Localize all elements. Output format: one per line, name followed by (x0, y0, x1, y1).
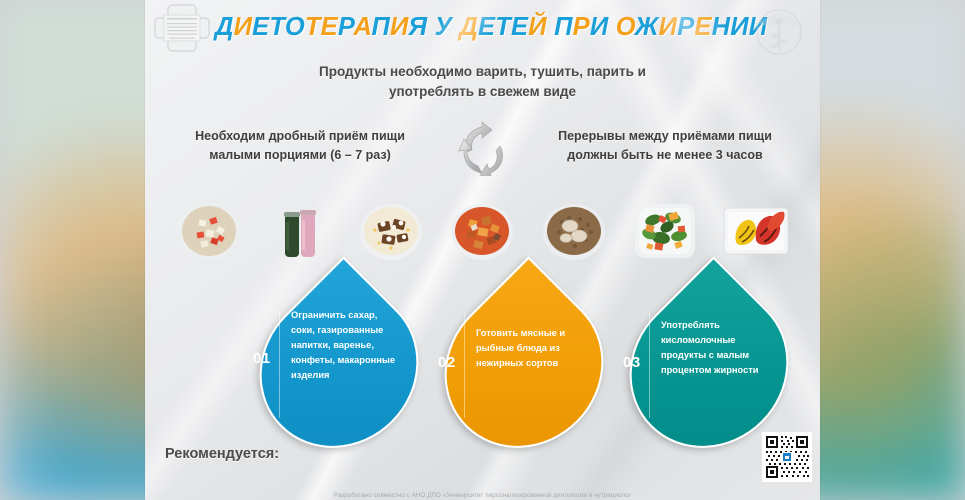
title-segment-0: Д (215, 13, 234, 41)
subtitle-line-2: употреблять в свежем виде (145, 82, 820, 102)
card-number-03: 03 (623, 354, 641, 371)
note-right-line-1: Перерывы между приёмами пищи (534, 127, 796, 146)
note-meal-interval: Перерывы между приёмами пищи должны быть… (534, 127, 796, 166)
infographic-poster: ДИЕТОТЕРАПИЯ У ДЕТЕЙ ПРИ ОЖИРЕНИИ Продук… (145, 0, 820, 500)
card-divider (464, 312, 465, 418)
title-segment-10: У (435, 13, 452, 41)
food-photo-buckwheat-with-mushrooms (538, 194, 610, 266)
title-segment-14: Й (528, 13, 547, 41)
title-segment-21: Ж (635, 13, 659, 41)
note-right-line-2: должны быть не менее 3 часов (534, 146, 796, 165)
title-segment-24: Е (694, 13, 711, 41)
title-segment-18: И (590, 13, 609, 41)
title-segment-3: ТЕ (305, 13, 338, 41)
food-photo-oatmeal-with-fruit (173, 194, 245, 266)
title-segment-12: Д (459, 13, 478, 41)
footer-credit: Разработано совместно с АНО ДПО «Универс… (145, 492, 820, 499)
food-photo-vegetable-stew (446, 194, 518, 266)
recommendation-card-02[interactable]: 02 Готовить мясные и рыбные блюда из неж… (412, 256, 636, 480)
card-number-02: 02 (438, 354, 456, 371)
note-left-line-1: Необходим дробный приём пищи (169, 127, 431, 146)
title-segment-9 (427, 13, 434, 41)
title-segment-2: ЕТО (252, 13, 305, 41)
page-title: ДИЕТОТЕРАПИЯ У ДЕТЕЙ ПРИ ОЖИРЕНИИ (215, 13, 748, 42)
card-number-01: 01 (253, 350, 271, 367)
poster-header: ДИЕТОТЕРАПИЯ У ДЕТЕЙ ПРИ ОЖИРЕНИИ (145, 0, 820, 58)
card-text-03: Употреблять кисломолочные продукты с мал… (661, 318, 769, 378)
title-segment-5: А (353, 13, 371, 41)
title-segment-4: Р (338, 13, 354, 41)
food-photo-fresh-vegetable-salad (629, 194, 701, 266)
title-segment-1: И (234, 13, 253, 41)
note-meal-frequency: Необходим дробный приём пищи малыми порц… (169, 127, 431, 166)
card-text-02: Готовить мясные и рыбные блюда из нежирн… (476, 326, 584, 371)
title-segment-19 (608, 13, 615, 41)
food-photo-strip (145, 189, 820, 271)
title-segment-7: И (390, 13, 409, 41)
title-segment-22: И (659, 13, 678, 41)
meal-frequency-note-row: Необходим дробный приём пищи малыми порц… (145, 115, 820, 177)
food-photo-grilled-peppers-tray (720, 194, 792, 266)
medical-cross-document-icon (153, 2, 211, 54)
card-text-01: Ограничить сахар, соки, газированные нап… (291, 308, 399, 383)
university-emblem-logo-icon (748, 0, 810, 58)
recycle-cycle-arrows-icon (452, 116, 514, 176)
qr-code[interactable] (762, 432, 812, 482)
recommendation-cards: 01 Ограничить сахар, соки, газированные … (145, 278, 820, 463)
card-divider (649, 312, 650, 418)
title-segment-23: Р (677, 13, 694, 41)
food-photo-smoothie-bottles (264, 194, 336, 266)
note-left-line-2: малыми порциями (6 – 7 раз) (169, 146, 431, 165)
title-segment-8: Я (409, 13, 428, 41)
title-segment-17: Р (573, 13, 590, 41)
recommend-label: Рекомендуется: (165, 446, 279, 462)
card-divider (279, 312, 280, 418)
title-segment-15 (547, 13, 554, 41)
title-segment-20: О (616, 13, 635, 41)
cooking-method-subtitle: Продукты необходимо варить, тушить, пари… (145, 62, 820, 101)
title-segment-13: ЕТЕ (478, 13, 528, 41)
food-photo-granola-dessert-bowl (355, 194, 427, 266)
title-segment-6: П (371, 13, 390, 41)
title-segment-16: П (554, 13, 573, 41)
subtitle-line-1: Продукты необходимо варить, тушить, пари… (145, 62, 820, 82)
